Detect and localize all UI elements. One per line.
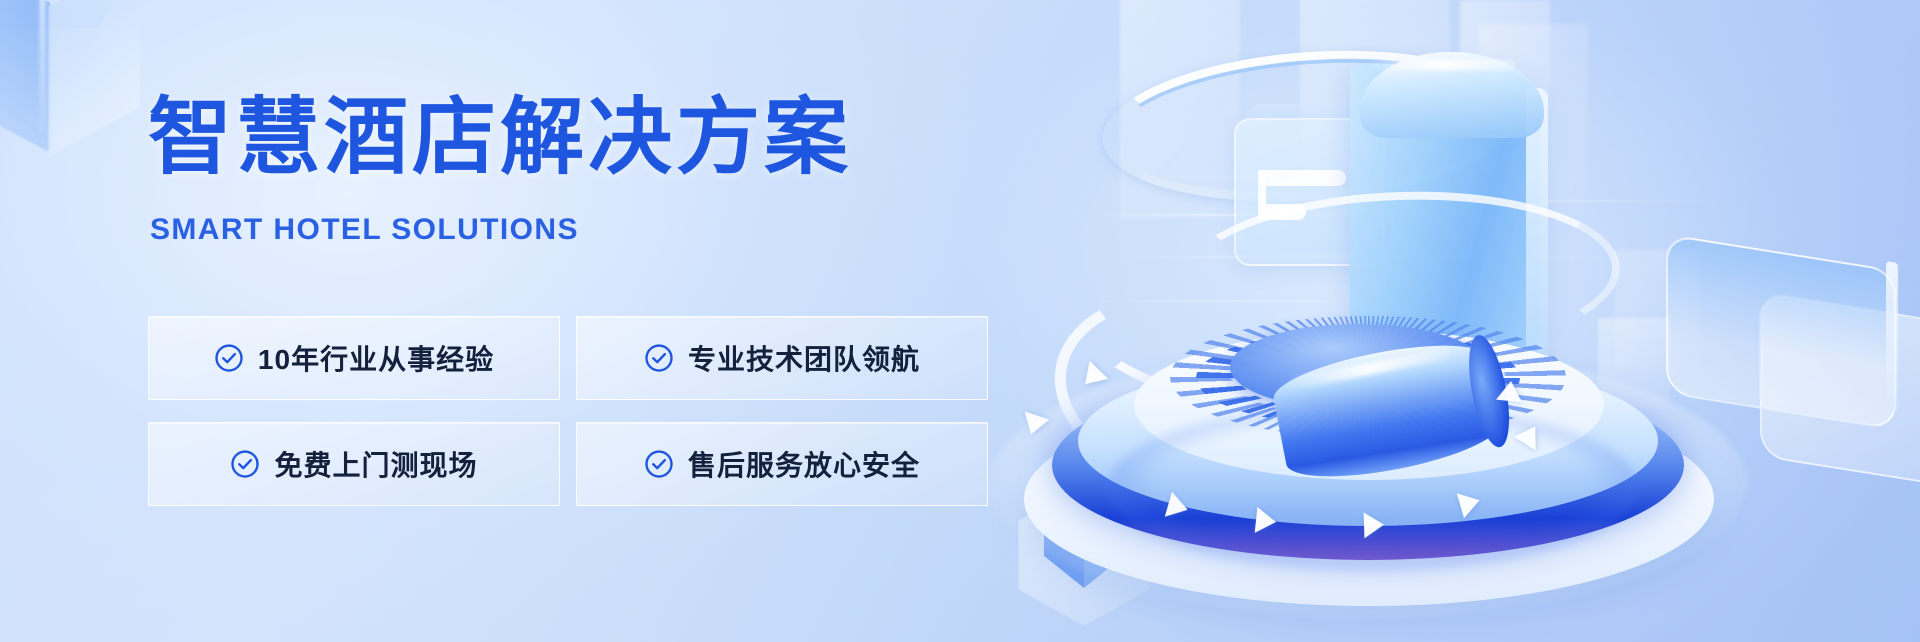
glass-panel-edge — [1886, 261, 1898, 413]
feature-item-2[interactable]: 免费上门测现场 — [148, 422, 560, 506]
info-card-line-1 — [1260, 170, 1346, 186]
feature-label-1: 专业技术团队领航 — [688, 338, 920, 378]
check-circle-icon — [644, 449, 674, 479]
check-circle-icon — [644, 343, 674, 373]
banner-title: 智慧酒店解决方案 — [148, 92, 852, 183]
banner-content: 智慧酒店解决方案 SMART HOTEL SOLUTIONS 10年行业从事经验… — [0, 0, 1060, 642]
smart-hotel-banner: 智慧酒店解决方案 SMART HOTEL SOLUTIONS 10年行业从事经验… — [0, 0, 1920, 642]
glass-panel-front — [1666, 234, 1896, 430]
banner-subtitle: SMART HOTEL SOLUTIONS — [150, 213, 579, 247]
feature-label-2: 免费上门测现场 — [274, 444, 477, 484]
rotation-arrow-8 — [1496, 380, 1524, 403]
feature-item-1[interactable]: 专业技术团队领航 — [576, 316, 988, 400]
glass-ribbon-highlight — [1366, 60, 1516, 70]
rotation-arrow-4 — [1255, 507, 1278, 535]
feature-item-0[interactable]: 10年行业从事经验 — [148, 316, 560, 400]
check-circle-icon — [230, 449, 260, 479]
check-circle-icon — [214, 343, 244, 373]
feature-item-3[interactable]: 售后服务放心安全 — [576, 422, 988, 506]
feature-label-3: 售后服务放心安全 — [688, 444, 920, 484]
rotation-arrow-5 — [1364, 512, 1385, 539]
hero-3d-illustration — [1060, 0, 1700, 642]
feature-list: 10年行业从事经验 专业技术团队领航 免费上门测现场 — [148, 316, 988, 506]
feature-label-0: 10年行业从事经验 — [258, 338, 494, 378]
